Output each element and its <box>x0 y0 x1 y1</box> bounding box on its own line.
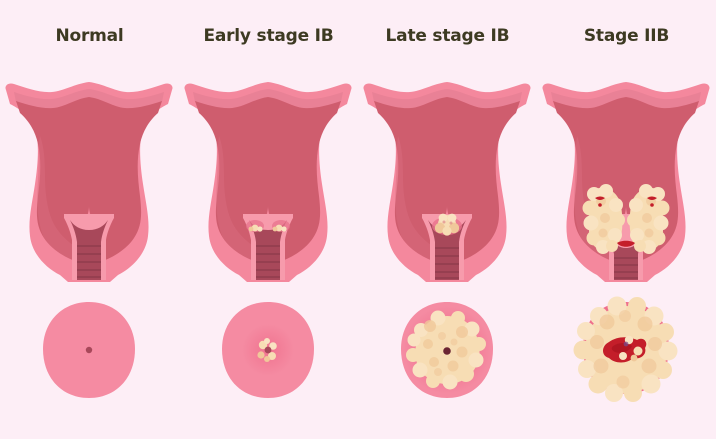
cervical-os <box>86 347 92 353</box>
uterus-diagram-early-stage-ib <box>179 68 358 290</box>
cervix-cross-section-early-stage-ib <box>179 296 358 406</box>
stage-panel-early-stage-ib: Early stage IB <box>179 0 358 439</box>
cervix-cross-section-stage-iib <box>537 296 716 406</box>
cervix-cross-section-late-stage-ib <box>358 296 537 406</box>
cervical-os <box>265 347 272 354</box>
uterus-diagram-normal <box>0 68 179 290</box>
cervix-cross-section-normal <box>0 296 179 406</box>
panel-label-late-stage-ib: Late stage IB <box>358 26 537 46</box>
uterus-diagram-stage-iib <box>537 68 716 290</box>
stage-panel-stage-iib: Stage IIB <box>537 0 716 439</box>
stage-panel-late-stage-ib: Late stage IB <box>358 0 537 439</box>
uterus-diagram-late-stage-ib <box>358 68 537 290</box>
panel-label-stage-iib: Stage IIB <box>537 26 716 46</box>
cervical-os <box>443 347 451 355</box>
stage-panel-normal: Normal <box>0 0 179 439</box>
panel-label-early-stage-ib: Early stage IB <box>179 26 358 46</box>
panel-label-normal: Normal <box>0 26 179 46</box>
